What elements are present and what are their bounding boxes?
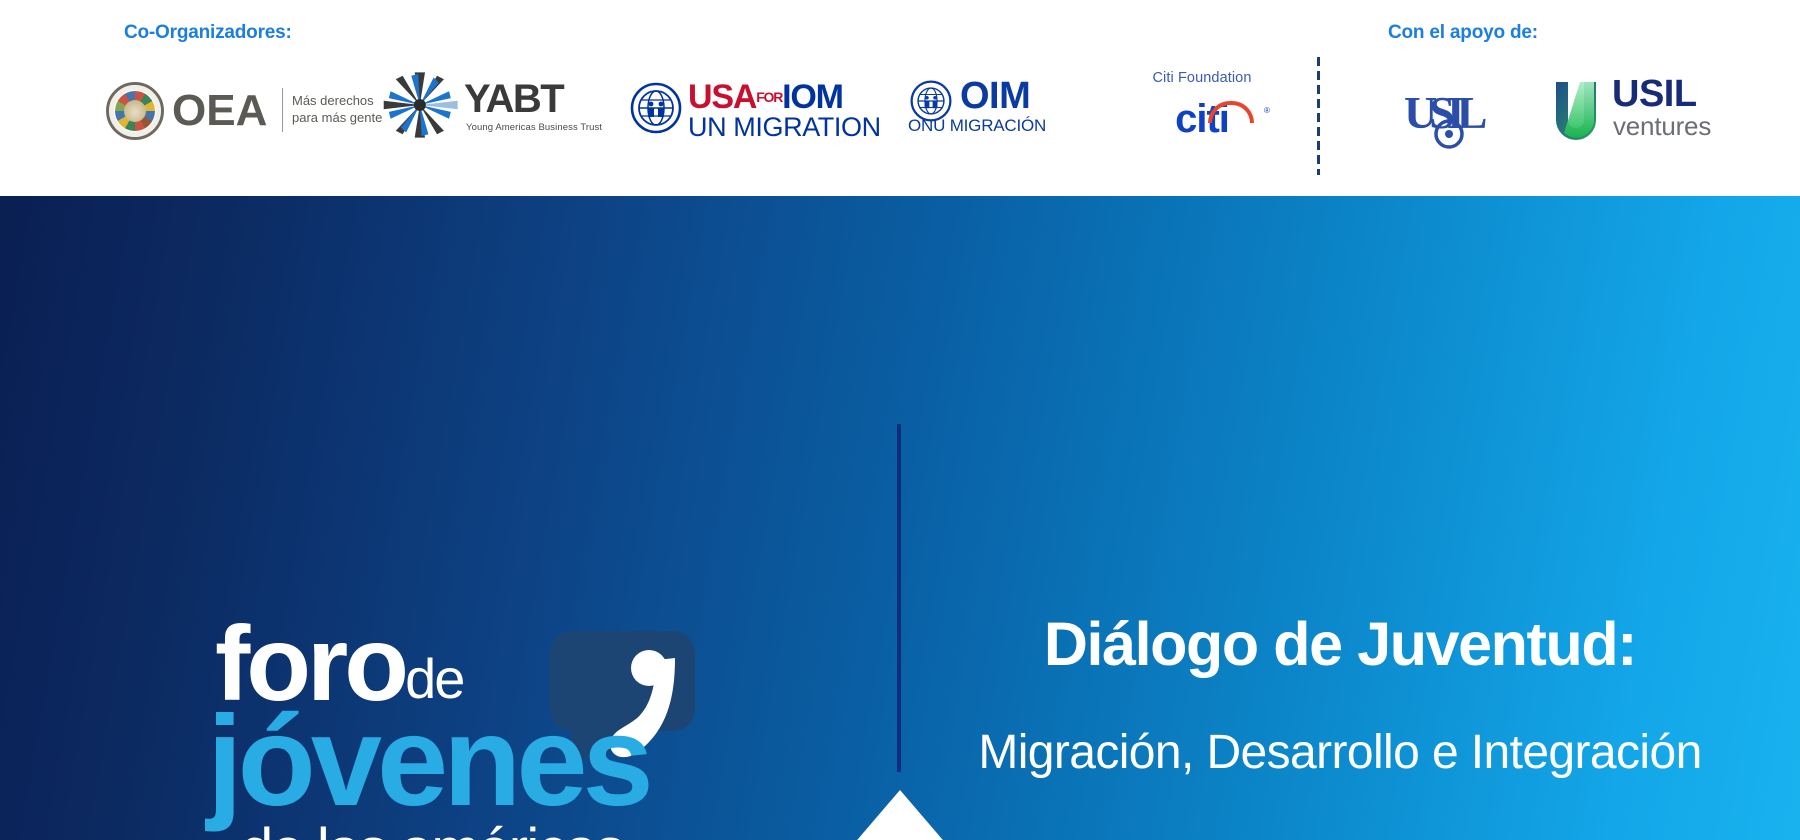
un-migration-text: UN MIGRATION [688, 113, 881, 142]
logo-usil-ventures: USIL ventures [1550, 74, 1740, 154]
foro-jovenes-logo: forode jóvenes de las américas [215, 606, 775, 840]
dashed-divider-icon [1317, 57, 1320, 175]
svg-text:USIL: USIL [1404, 87, 1486, 138]
logo-usa-for-iom: USAFORIOM UN MIGRATION [630, 82, 860, 144]
logo-oea: OEA Más derechos para más gente [106, 80, 346, 142]
logo-oim: OIM ONU MIGRACIÓN [908, 80, 1088, 142]
logo-citi-foundation: Citi Foundation citi ® [1112, 70, 1292, 140]
usil-crest-icon: USIL [1402, 80, 1502, 150]
yabt-star-icon [382, 70, 468, 140]
page-subtitle: Migración, Desarrollo e Integración [960, 724, 1720, 782]
usa-text: USA [688, 78, 756, 116]
yabt-tagline: Young Americas Business Trust [466, 122, 602, 133]
logo-usil: USIL [1402, 80, 1512, 152]
support-label: Con el apoyo de: [1388, 22, 1538, 44]
jovenes-word: jóvenes [207, 698, 649, 826]
oea-tagline: Más derechos para más gente [292, 92, 382, 126]
oea-tagline-line1: Más derechos [292, 93, 374, 108]
hero-text-block: Diálogo de Juventud: Migración, Desarrol… [960, 606, 1720, 782]
hero-banner: forode jóvenes de las américas Diálogo d… [0, 196, 1800, 840]
citi-wordmark: citi [1112, 98, 1292, 140]
iom-text: IOM [782, 78, 843, 116]
vertical-divider [897, 424, 901, 772]
oea-wordmark: OEA [172, 86, 267, 136]
oea-rule [282, 88, 283, 132]
sponsor-band: Co-Organizadores: Con el apoyo de: OEA M… [0, 0, 1800, 196]
coorganizers-label: Co-Organizadores: [124, 22, 292, 44]
usa-iom-line1: USAFORIOM [688, 79, 843, 115]
oea-seal-icon [106, 82, 164, 140]
for-text: FOR [756, 89, 782, 105]
citi-registered-mark: ® [1264, 106, 1270, 115]
logo-yabt: YABT Young Americas Business Trust [382, 66, 582, 142]
slide-root: Co-Organizadores: Con el apoyo de: OEA M… [0, 0, 1800, 840]
up-triangle-icon [852, 790, 948, 840]
usil-ventures-wordmark: USIL [1612, 74, 1697, 114]
oea-tagline-line2: para más gente [292, 110, 382, 125]
oim-wordmark: OIM [960, 76, 1030, 116]
citi-foundation-label: Citi Foundation [1112, 70, 1292, 86]
yabt-wordmark: YABT [464, 78, 563, 120]
usil-ventures-subtitle: ventures [1613, 112, 1711, 140]
oim-subtitle: ONU MIGRACIÓN [908, 116, 1046, 135]
de-las-americas-word: de las américas [241, 820, 623, 840]
usil-leaf-icon [1550, 78, 1602, 146]
iom-globe-icon [630, 82, 682, 134]
page-title: Diálogo de Juventud: [960, 606, 1720, 682]
